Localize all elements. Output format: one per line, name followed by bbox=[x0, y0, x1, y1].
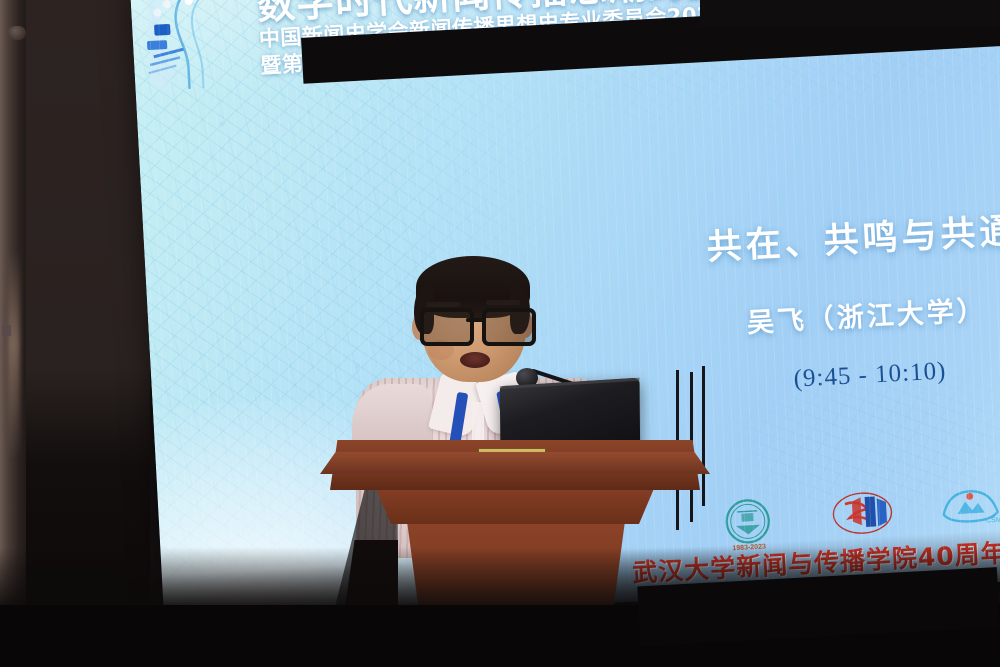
wall-knob-icon bbox=[8, 26, 26, 40]
mouth bbox=[460, 352, 490, 368]
eyebrow-right bbox=[486, 300, 520, 305]
wall-tag bbox=[2, 325, 11, 336]
glasses-lens-left bbox=[420, 308, 474, 346]
eyebrow-left bbox=[426, 302, 460, 307]
presentation-photo-scene: 数字时代新闻传播思潮的生产与再生产 中国新闻史学会新闻传播思想史专业委员会202… bbox=[0, 0, 1000, 667]
glasses-bridge bbox=[466, 318, 484, 322]
wall-strip-highlight bbox=[8, 250, 20, 460]
glasses-lens-right bbox=[482, 308, 536, 346]
glasses-icon bbox=[418, 308, 536, 338]
podium-lip bbox=[320, 452, 710, 474]
ceiling-dark-band-right bbox=[700, 0, 1000, 26]
